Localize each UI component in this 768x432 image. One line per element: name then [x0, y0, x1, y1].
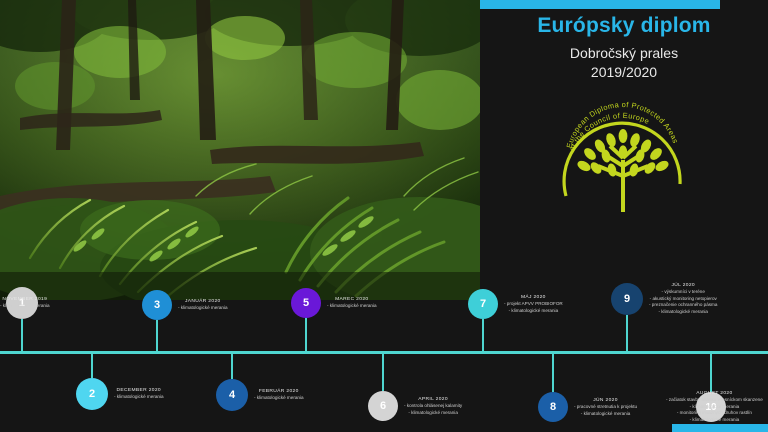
timeline-detail: - klimatologické merania — [574, 411, 637, 418]
timeline-stem — [382, 352, 384, 391]
forest-photo — [0, 0, 480, 300]
timeline-label-4: FEBRUÁR 2020- klimatologické merania — [254, 388, 304, 402]
timeline-node-5[interactable]: 5 — [291, 288, 321, 318]
timeline-stem — [626, 315, 628, 352]
timeline-detail: - výskumníci v teréne — [649, 289, 717, 296]
timeline-month: NOVEMBER 2019 — [0, 296, 50, 303]
timeline-detail: - kontrola ohlásenej kalamity — [404, 403, 462, 410]
timeline-detail: - monitoring inváznych druhov rastlín — [666, 410, 763, 417]
timeline-month: FEBRUÁR 2020 — [254, 388, 304, 395]
timeline-node-9[interactable]: 9 — [611, 283, 643, 315]
timeline-stem — [305, 318, 307, 352]
timeline-node-6[interactable]: 6 — [368, 391, 398, 421]
page-title: Európsky diplom — [480, 14, 768, 38]
timeline-stem — [552, 352, 554, 392]
timeline-stem — [231, 352, 233, 379]
timeline-detail: - klimatologické merania — [404, 410, 462, 417]
timeline-stem — [91, 352, 93, 378]
timeline-detail: - začiatok stavby altánku v lesníckom sk… — [666, 397, 763, 404]
timeline-detail: - klimatologické merania — [649, 309, 717, 316]
timeline-month: AUGUST 2020 — [666, 390, 763, 397]
european-diploma-logo-icon: European Diploma of Protected Areas of t… — [548, 88, 698, 216]
header-years: 2019/2020 — [480, 64, 768, 80]
timeline-label-1: NOVEMBER 2019- klimatologické merania — [0, 296, 50, 310]
timeline-detail: - akustický monitoring netopierov — [649, 296, 717, 303]
svg-text:of the Council of Europe: of the Council of Europe — [567, 111, 651, 152]
timeline-detail: - klimatologické merania — [114, 394, 164, 401]
timeline-node-2[interactable]: 2 — [76, 378, 108, 410]
timeline-detail: - pracovné stretnutia k projektu — [574, 404, 637, 411]
timeline-month: MAREC 2020 — [327, 296, 377, 303]
timeline-detail: - klimatologické merania — [0, 303, 50, 310]
timeline-label-8: JÚN 2020- pracovné stretnutia k projektu… — [574, 397, 637, 417]
timeline-month: JÚN 2020 — [574, 397, 637, 404]
timeline-axis — [0, 351, 768, 354]
timeline-label-10: AUGUST 2020- začiatok stavby altánku v l… — [666, 390, 763, 424]
slide-canvas: Európsky diplom Dobročský prales 2019/20… — [0, 0, 768, 432]
timeline-node-4[interactable]: 4 — [216, 379, 248, 411]
timeline-detail: - projekt APVV PROBIOFOR — [504, 301, 563, 308]
timeline-month: DECEMBER 2020 — [114, 387, 164, 394]
bottom-accent-bar — [672, 424, 768, 432]
timeline-node-7[interactable]: 7 — [468, 289, 498, 319]
timeline-detail: - klimatologické merania — [178, 305, 228, 312]
timeline-month: APRIL 2020 — [404, 396, 462, 403]
header-subtitle: Dobročský prales — [480, 45, 768, 61]
timeline-label-6: APRIL 2020- kontrola ohlásenej kalamity-… — [404, 396, 462, 416]
timeline-label-5: MAREC 2020- klimatologické merania — [327, 296, 377, 310]
timeline-month: JÚL 2020 — [649, 282, 717, 289]
timeline-label-2: DECEMBER 2020- klimatologické merania — [114, 387, 164, 401]
timeline-node-8[interactable]: 8 — [538, 392, 568, 422]
timeline-stem — [482, 319, 484, 352]
timeline-month: MÁJ 2020 — [504, 294, 563, 301]
timeline-detail: - klimatologické merania — [666, 417, 763, 424]
timeline-stem — [156, 320, 158, 352]
timeline-detail: - klimatologické merania — [254, 395, 304, 402]
timeline-stem — [710, 352, 712, 392]
timeline-detail: - klimatologické merania — [504, 308, 563, 315]
timeline-node-3[interactable]: 3 — [142, 290, 172, 320]
timeline-detail: - klimatologické merania — [666, 404, 763, 411]
header: Európsky diplom Dobročský prales 2019/20… — [480, 0, 768, 80]
timeline-label-3: JANUÁR 2020- klimatologické merania — [178, 298, 228, 312]
timeline-label-7: MÁJ 2020- projekt APVV PROBIOFOR- klimat… — [504, 294, 563, 314]
timeline-detail: - preznačenie ochranného pásma — [649, 302, 717, 309]
timeline-month: JANUÁR 2020 — [178, 298, 228, 305]
timeline-stem — [21, 319, 23, 352]
timeline-detail: - klimatologické merania — [327, 303, 377, 310]
timeline-label-9: JÚL 2020- výskumníci v teréne- akustický… — [649, 282, 717, 316]
